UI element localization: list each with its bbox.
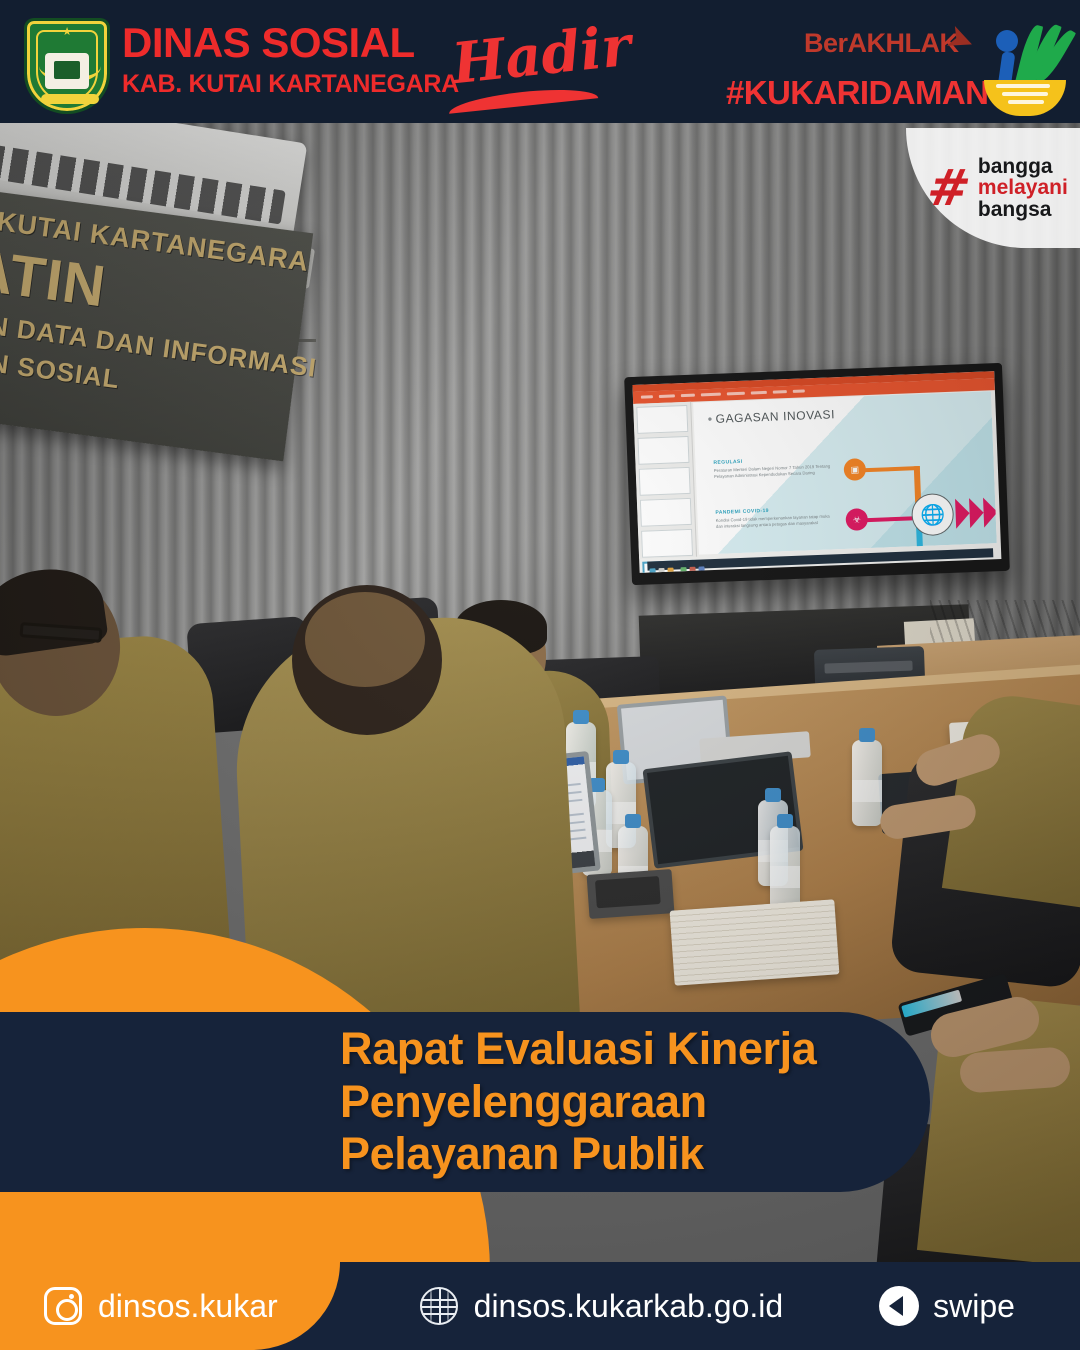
instagram-icon xyxy=(44,1287,82,1325)
hash-icon: # xyxy=(924,163,975,213)
globe-icon xyxy=(420,1287,458,1325)
swipe-label: swipe xyxy=(933,1288,1015,1325)
badge-line-1: bangga xyxy=(978,156,1068,177)
instagram-handle[interactable]: dinsos.kukar xyxy=(44,1287,278,1325)
website-label: dinsos.kukarkab.go.id xyxy=(474,1288,784,1325)
brand-line-1: DINAS SOSIAL xyxy=(122,22,459,64)
kukaridaman-hashtag: #KUKARIDAMAN xyxy=(726,74,988,112)
badge-line-2: melayani xyxy=(978,177,1068,198)
title-card: Rapat Evaluasi Kinerja Penyelenggaraan P… xyxy=(0,1012,930,1192)
poster-footer: dinsos.kukar dinsos.kukarkab.go.id swipe xyxy=(0,1262,1080,1350)
play-left-icon xyxy=(879,1286,919,1326)
brand-line-2: KAB. KUTAI KARTANEGARA xyxy=(122,72,459,97)
poster-header: ★ DINAS SOSIAL KAB. KUTAI KARTANEGARA Ha… xyxy=(0,0,1080,123)
instagram-label: dinsos.kukar xyxy=(98,1288,278,1325)
berakhlak-wordmark: BerAKHLAK➤ xyxy=(804,28,959,59)
swipe-hint[interactable]: swipe xyxy=(879,1286,1015,1326)
berakhlak-person-leaf-icon xyxy=(970,22,1068,114)
poster-canvas: PATEN KUTAI KARTANEGARA S PATIN ELOLAAN … xyxy=(0,0,1080,1350)
kutai-kartanegara-seal-icon: ★ xyxy=(24,18,110,114)
page-title: Rapat Evaluasi Kinerja Penyelenggaraan P… xyxy=(340,1023,930,1181)
brand-wordmark: DINAS SOSIAL KAB. KUTAI KARTANEGARA xyxy=(122,22,459,97)
website-link[interactable]: dinsos.kukarkab.go.id xyxy=(420,1287,784,1325)
hadir-script: Hadir xyxy=(449,13,634,97)
badge-line-3: bangsa xyxy=(978,199,1068,220)
